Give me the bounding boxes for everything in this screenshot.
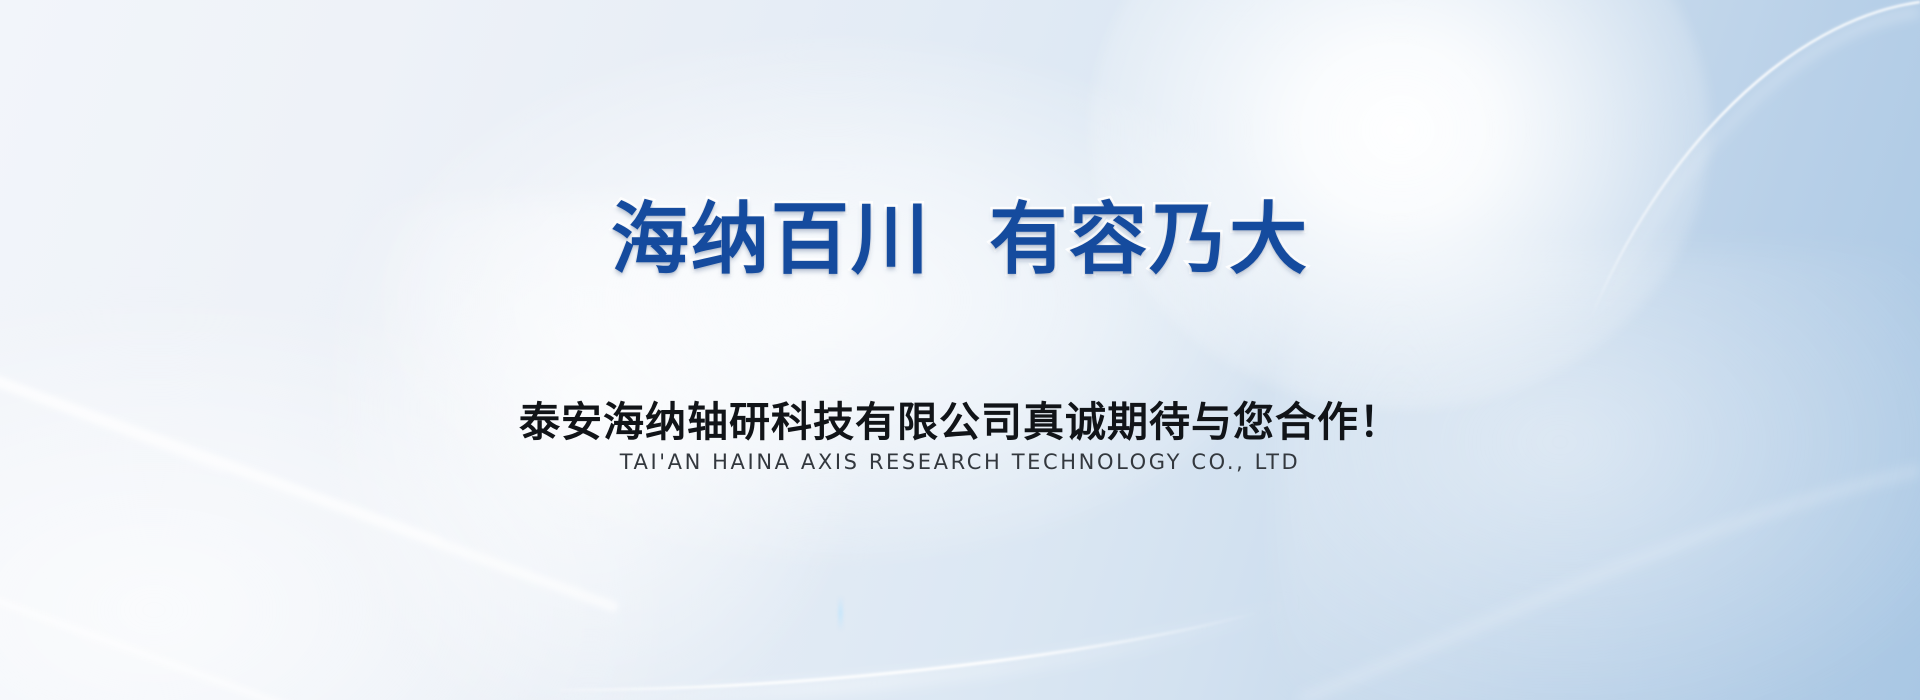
banner-subtitle-cn: 泰安海纳轴研科技有限公司真诚期待与您合作！ — [0, 388, 1920, 448]
banner-headline: 海纳百川 有容乃大 — [0, 198, 1920, 282]
hero-banner: 海纳百川 有容乃大 泰安海纳轴研科技有限公司真诚期待与您合作！ TAI'AN H… — [0, 0, 1920, 700]
light-streak-1 — [0, 341, 620, 616]
arc-bottom-glow — [520, 600, 1300, 700]
arc-lower-right — [1300, 470, 1920, 700]
haze-right — [1280, 250, 1920, 700]
decorative-arcs — [0, 0, 1920, 700]
arc-bottom — [560, 612, 1260, 690]
glow-bottom-left — [0, 300, 660, 700]
banner-content: 海纳百川 有容乃大 泰安海纳轴研科技有限公司真诚期待与您合作！ TAI'AN H… — [0, 0, 1920, 700]
light-flare-icon — [838, 595, 843, 631]
banner-subtitle-en: TAI'AN HAINA AXIS RESEARCH TECHNOLOGY CO… — [0, 450, 1920, 474]
light-streak-3 — [0, 530, 345, 700]
glow-center — [380, 40, 1280, 560]
arc-top-right-glow — [1596, 12, 1920, 332]
